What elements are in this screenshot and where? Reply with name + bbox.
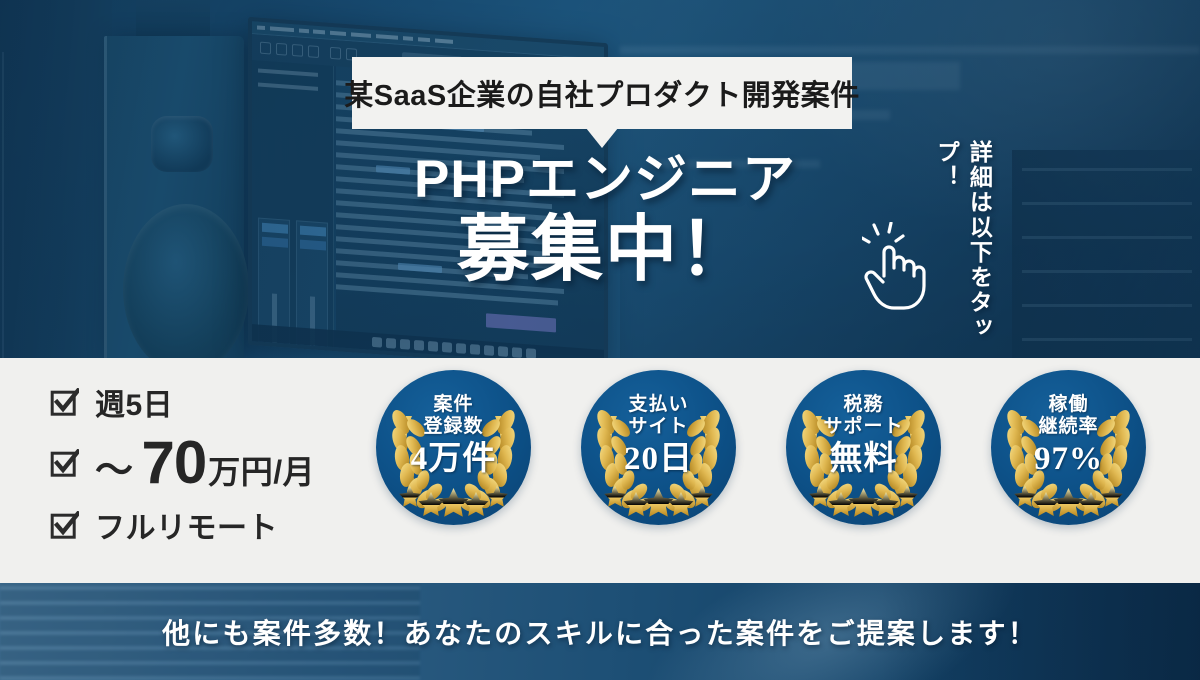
tap-hand-icon [862,222,936,314]
badge-caption-line2: 継続率 [991,416,1146,438]
list-item: 週5日 [50,380,315,424]
award-badge: 支払い サイト 20日 [581,370,736,525]
pay-unit: 万円/月 [208,447,315,493]
bottom-message-bar: 他にも案件多数！あなたのスキルに合った案件をご提案します！ [0,583,1200,680]
condition-label-days: 週5日 [95,380,173,424]
badge-caption-line2: サポート [786,416,941,438]
badge-text-block: 案件 登録数 4万件 [376,394,531,478]
badge-text-block: 稼働 継続率 97% [991,394,1146,478]
bubble-tail [586,128,618,148]
badge-caption-line1: 稼働 [991,394,1146,416]
condition-checklist: 週5日 〜 70 万円/月 [50,380,315,547]
award-badge: 案件 登録数 4万件 [376,370,531,525]
hero-section: 某SaaS企業の自社プロダクト開発案件 PHPエンジニア 募集中！ 詳細は以下を… [0,0,1200,358]
pay-tilde: 〜 [95,439,134,494]
features-section: 週5日 〜 70 万円/月 [0,358,1200,583]
badge-text-block: 支払い サイト 20日 [581,394,736,478]
category-label-bubble: 某SaaS企業の自社プロダクト開発案件 [352,57,852,129]
job-advertisement-banner: 某SaaS企業の自社プロダクト開発案件 PHPエンジニア 募集中！ 詳細は以下を… [0,0,1200,680]
badge-caption-line1: 支払い [581,394,736,416]
badge-value: 無料 [786,441,941,478]
checkbox-checked-icon [50,388,79,417]
badge-caption-line1: 税務 [786,394,941,416]
badge-caption-line2: 登録数 [376,416,531,438]
list-item: 〜 70 万円/月 [50,433,315,494]
badge-text-block: 税務 サポート 無料 [786,394,941,478]
tap-call-to-action-text[interactable]: 詳細は以下をタップ！ [930,140,995,358]
checkbox-checked-icon [50,511,79,540]
headline-recruiting: 募集中！ [380,210,830,291]
condition-label-remote: フルリモート [95,503,278,547]
award-badge: 稼働 継続率 97% [991,370,1146,525]
list-item: フルリモート [50,503,315,547]
category-label-text: 某SaaS企業の自社プロダクト開発案件 [344,72,859,114]
bottom-message-text: 他にも案件多数！あなたのスキルに合った案件をご提案します！ [0,583,1200,680]
badge-value: 4万件 [376,441,531,478]
award-badge: 税務 サポート 無料 [786,370,941,525]
headline-role: PHPエンジニア [380,152,830,208]
checkbox-checked-icon [50,449,79,478]
badge-caption-line2: サイト [581,416,736,438]
badge-value: 20日 [581,441,736,478]
pay-amount: 70 [142,433,207,493]
badge-caption-line1: 案件 [376,394,531,416]
page-title: PHPエンジニア 募集中！ [380,152,830,290]
badge-value: 97% [991,441,1146,478]
award-badge-group: 案件 登録数 4万件 [376,370,1146,525]
condition-label-pay: 〜 70 万円/月 [95,433,315,494]
